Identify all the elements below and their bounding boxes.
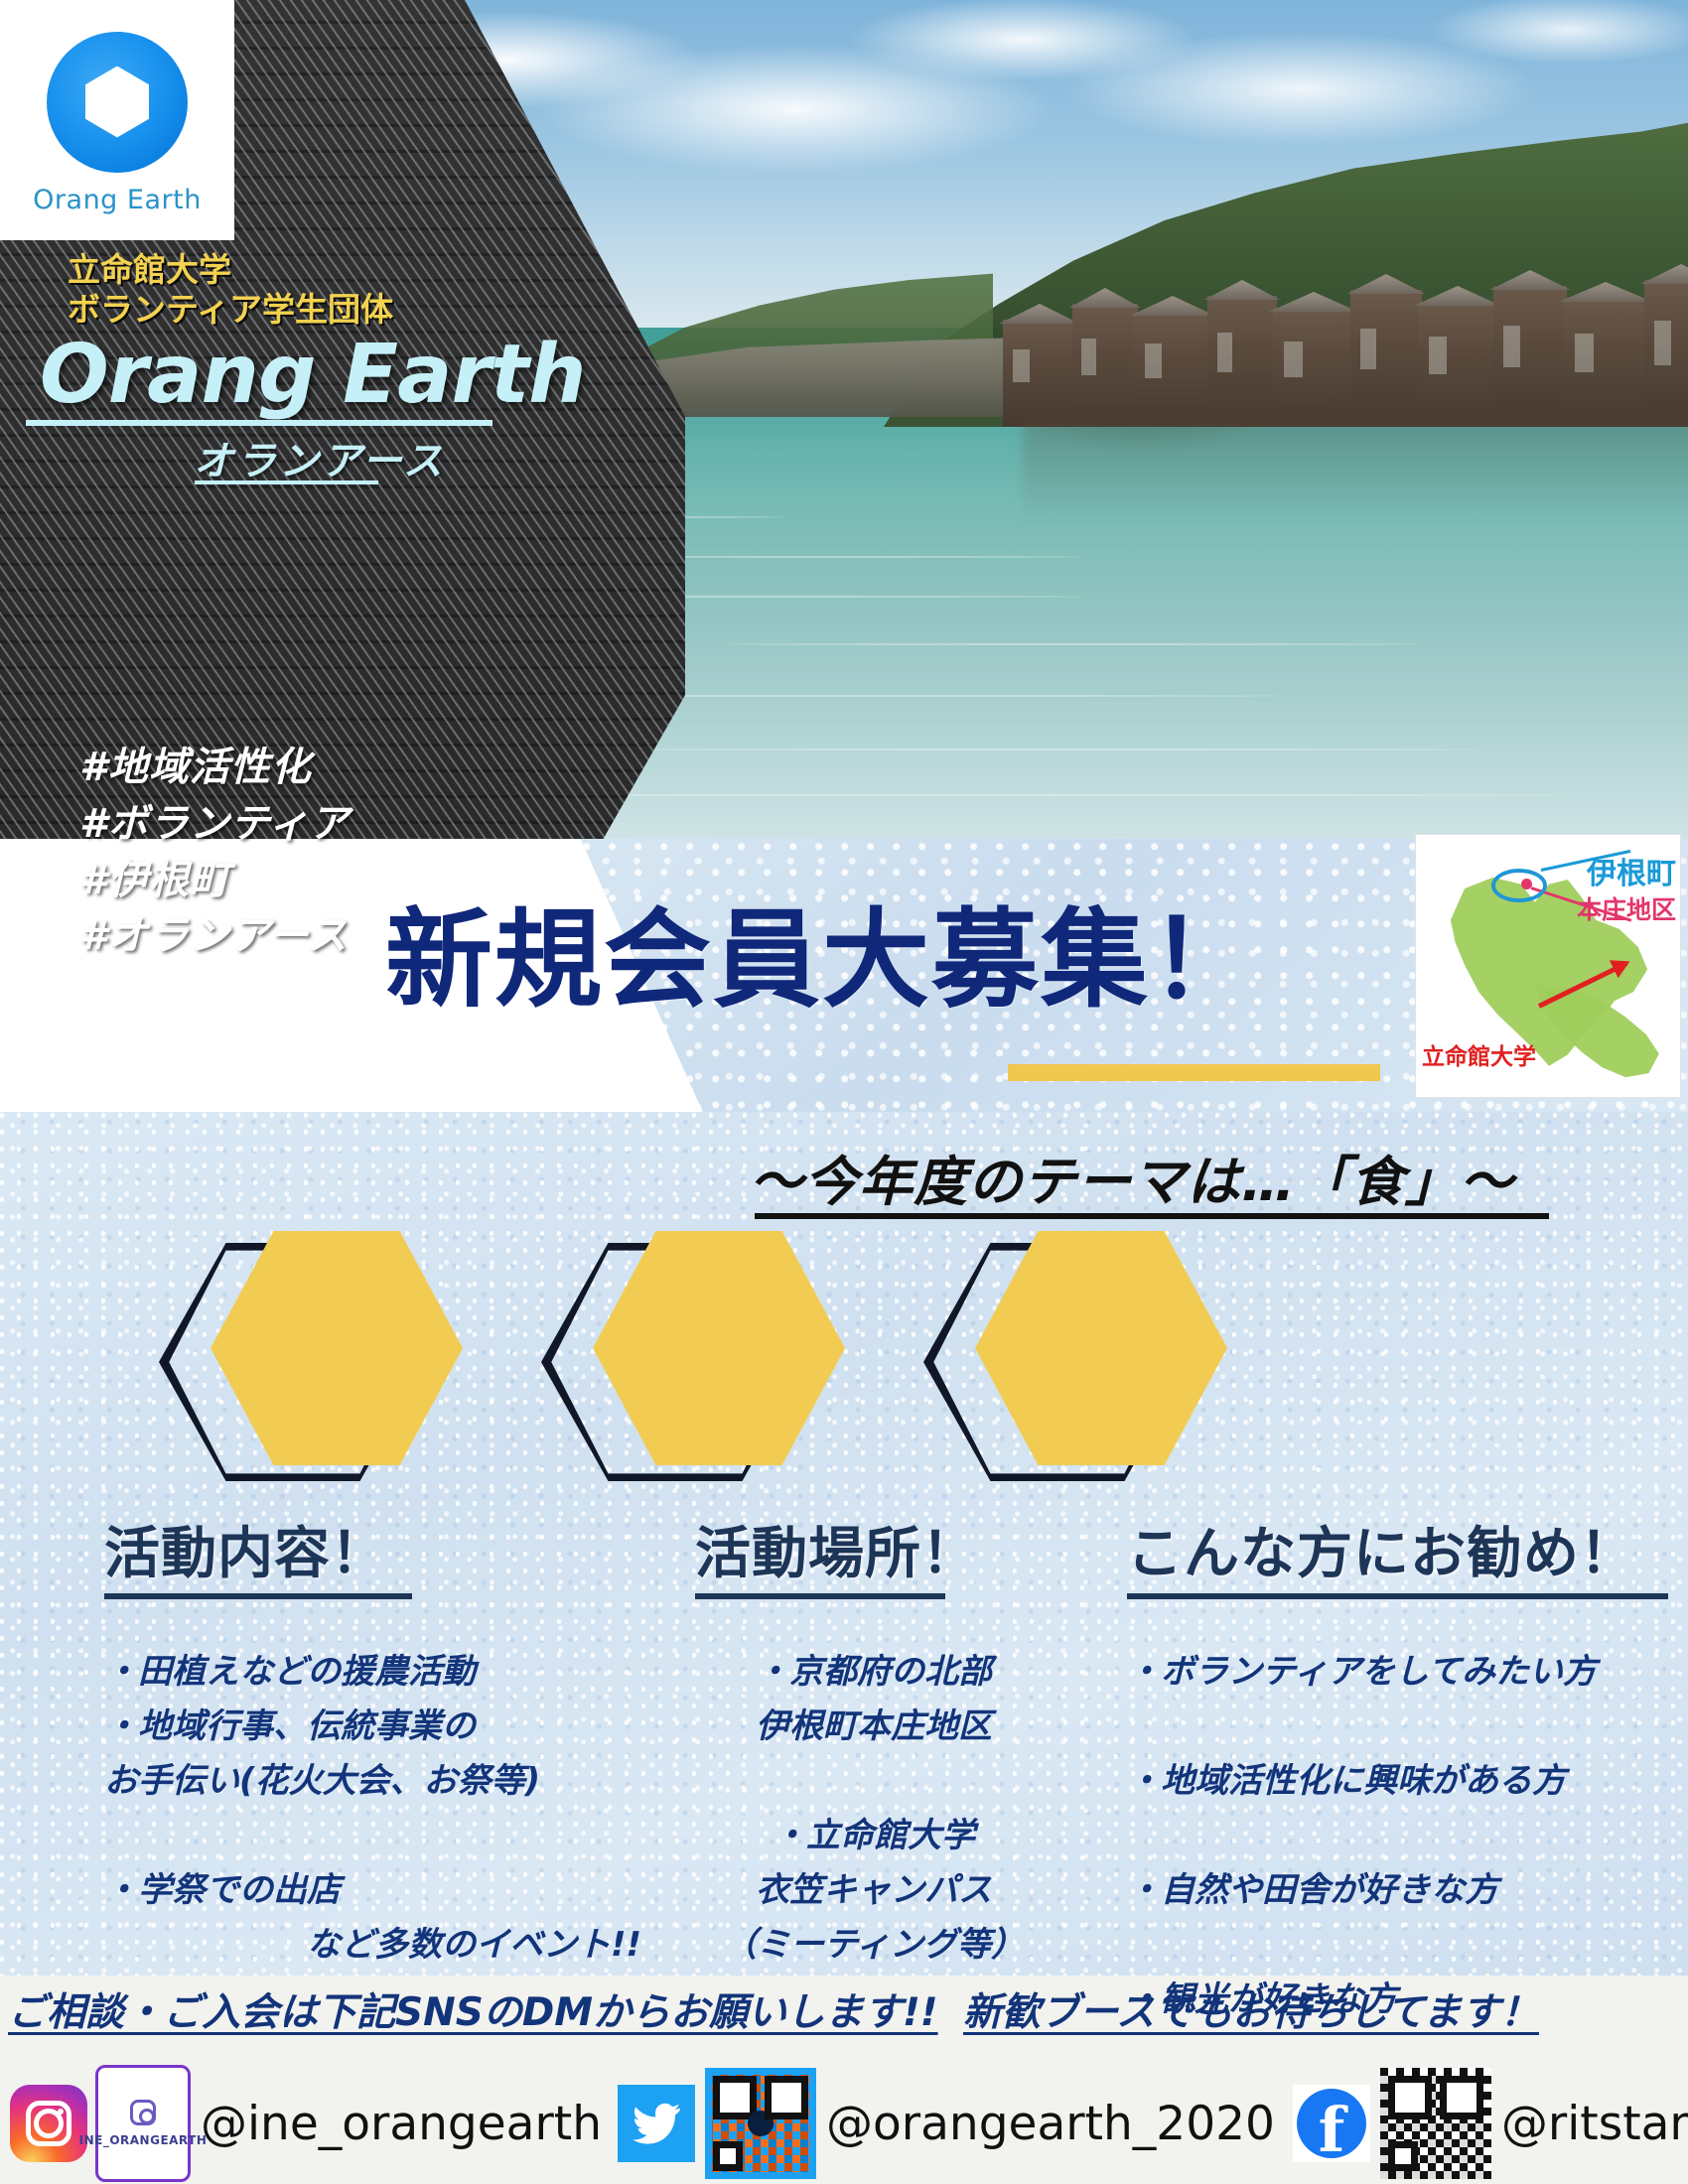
column-title-underline bbox=[104, 1593, 412, 1599]
footer-note-contact: ご相談・ご入会は下記SNSのDMからお願いします!! bbox=[8, 1981, 938, 2037]
brand-title-jp: オランアース bbox=[194, 429, 446, 486]
org-line-1: 立命館大学 bbox=[68, 250, 393, 290]
instagram-handle[interactable]: @ine_orangearth bbox=[201, 2097, 602, 2151]
ine-highlight-circle bbox=[1491, 869, 1547, 902]
honjo-marker-dot bbox=[1521, 879, 1532, 889]
facebook-icon[interactable]: f bbox=[1293, 2085, 1370, 2162]
sns-item-twitter[interactable]: @orangearth_2020 bbox=[602, 2068, 1275, 2179]
brand-jp-underline bbox=[195, 480, 378, 484]
page-headline: 新規会員大募集！ bbox=[385, 874, 1259, 1028]
water-reflection bbox=[1023, 417, 1688, 526]
org-line-2: ボランティア学生団体 bbox=[68, 290, 393, 330]
column-title: 活動内容！ bbox=[104, 1509, 660, 1589]
twitter-icon[interactable] bbox=[618, 2085, 695, 2162]
hashtag-item: #地域活性化 bbox=[79, 740, 350, 796]
logo-card: Orang Earth bbox=[0, 0, 234, 240]
map-label-honjo: 本庄地区 bbox=[1577, 890, 1676, 926]
sns-item-instagram[interactable]: INE_ORANGEARTH @ine_orangearth bbox=[0, 2065, 602, 2182]
hexagon-decoration-1 bbox=[159, 1231, 457, 1491]
hashtag-item: #伊根町 bbox=[79, 853, 350, 909]
theme-underline bbox=[755, 1213, 1549, 1219]
logo-wordmark: Orang Earth bbox=[33, 185, 202, 215]
info-column-locations: 活動場所！ ・京都府の北部 伊根町本庄地区 ・立命館大学 衣笠キャンパス （ミー… bbox=[695, 1509, 1092, 1973]
facebook-qr-code[interactable] bbox=[1380, 2068, 1491, 2179]
sns-item-facebook[interactable]: f @ritstango bbox=[1275, 2068, 1688, 2179]
column-title-underline bbox=[1127, 1593, 1668, 1599]
hexagon-fill-icon bbox=[211, 1231, 463, 1465]
twitter-qr-code[interactable] bbox=[705, 2068, 816, 2179]
instagram-qr-label: INE_ORANGEARTH bbox=[79, 2133, 208, 2147]
column-body: ・ボランティアをしてみたい方 ・地域活性化に興味がある方 ・自然や田舎が好きな方… bbox=[1127, 1645, 1683, 2028]
poster-root: Orang Earth 立命館大学 ボランティア学生団体 Orang Earth… bbox=[0, 0, 1688, 2184]
info-column-recommended: こんな方にお勧め！ ・ボランティアをしてみたい方 ・地域活性化に興味がある方 ・… bbox=[1127, 1509, 1683, 2028]
brand-title-en: Orang Earth bbox=[40, 328, 585, 422]
sns-row: INE_ORANGEARTH @ine_orangearth @orangear… bbox=[0, 2063, 1688, 2184]
hexagon-fill-icon bbox=[975, 1231, 1227, 1465]
hashtag-item: #オランアース bbox=[79, 908, 350, 965]
headline-accent-bar bbox=[1008, 1064, 1380, 1081]
instagram-icon bbox=[130, 2100, 156, 2125]
orang-earth-logo-icon bbox=[47, 32, 188, 173]
hexagon-icon bbox=[85, 67, 149, 138]
funaya-boathouses bbox=[1003, 199, 1688, 427]
column-body: ・京都府の北部 伊根町本庄地区 ・立命館大学 衣笠キャンパス （ミーティング等） bbox=[655, 1645, 1092, 1973]
hexagon-decoration-3 bbox=[923, 1231, 1221, 1491]
organization-name: 立命館大学 ボランティア学生団体 bbox=[68, 250, 393, 331]
brand-underline bbox=[26, 420, 492, 426]
hashtag-list: #地域活性化 #ボランティア #伊根町 #オランアース bbox=[79, 740, 350, 965]
column-title: こんな方にお勧め！ bbox=[1127, 1509, 1683, 1589]
hexagon-decoration-2 bbox=[541, 1231, 839, 1491]
kyoto-map-inset: 伊根町 本庄地区 立命館大学 bbox=[1415, 834, 1681, 1098]
instagram-qr-card[interactable]: INE_ORANGEARTH bbox=[95, 2065, 191, 2182]
column-title-underline bbox=[695, 1593, 945, 1599]
theme-heading: ～今年度のテーマは…「食」～ bbox=[750, 1138, 1514, 1216]
hexagon-fill-icon bbox=[593, 1231, 845, 1465]
instagram-icon[interactable] bbox=[10, 2085, 87, 2162]
twitter-handle[interactable]: @orangearth_2020 bbox=[826, 2097, 1275, 2151]
map-label-ritsumeikan: 立命館大学 bbox=[1422, 1037, 1536, 1071]
column-body: ・田植えなどの援農活動 ・地域行事、伝統事業の お手伝い(花火大会、お祭等) ・… bbox=[104, 1645, 660, 1973]
hashtag-item: #ボランティア bbox=[79, 796, 350, 853]
info-column-activities: 活動内容！ ・田植えなどの援農活動 ・地域行事、伝統事業の お手伝い(花火大会、… bbox=[104, 1509, 660, 1973]
map-label-ine: 伊根町 bbox=[1587, 849, 1676, 892]
column-title: 活動場所！ bbox=[695, 1509, 1092, 1589]
facebook-handle[interactable]: @ritstango bbox=[1501, 2097, 1688, 2151]
